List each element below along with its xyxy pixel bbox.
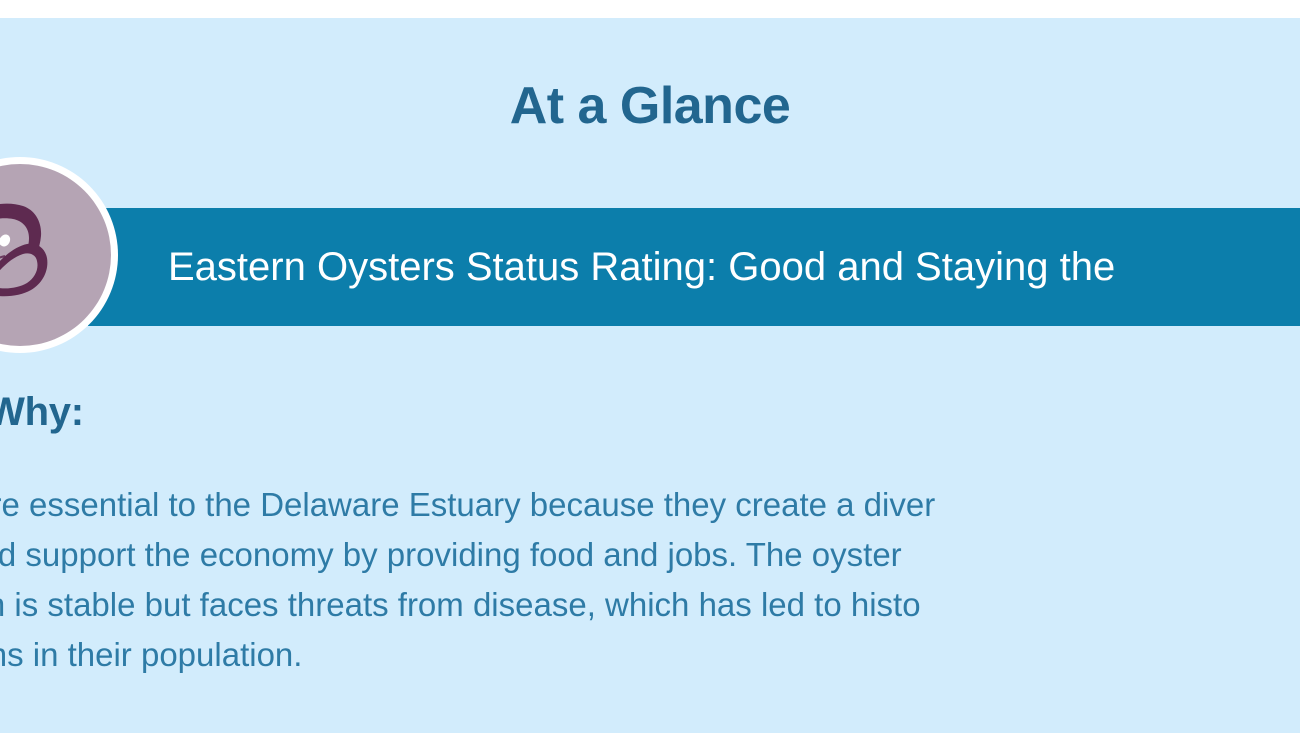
content-panel: At a Glance Eastern Oysters Status Ratin…: [0, 18, 1300, 733]
page-title: At a Glance: [0, 76, 1300, 136]
body-line: ulation is stable but faces threats from…: [0, 580, 1300, 630]
status-banner: Eastern Oysters Status Rating: Good and …: [88, 208, 1300, 326]
body-line: tuations in their population.: [0, 630, 1300, 680]
why-heading: re's Why:: [0, 390, 84, 435]
why-body-text: ters are essential to the Delaware Estua…: [0, 480, 1300, 680]
status-banner-label: Eastern Oysters Status Rating: Good and …: [168, 245, 1115, 290]
body-line: itat and support the economy by providin…: [0, 530, 1300, 580]
body-line: ters are essential to the Delaware Estua…: [0, 480, 1300, 530]
oyster-badge-disc: [0, 164, 111, 346]
oyster-shell-icon: [0, 164, 111, 346]
at-a-glance-infographic: At a Glance Eastern Oysters Status Ratin…: [0, 0, 1300, 750]
oyster-badge: [0, 157, 118, 353]
